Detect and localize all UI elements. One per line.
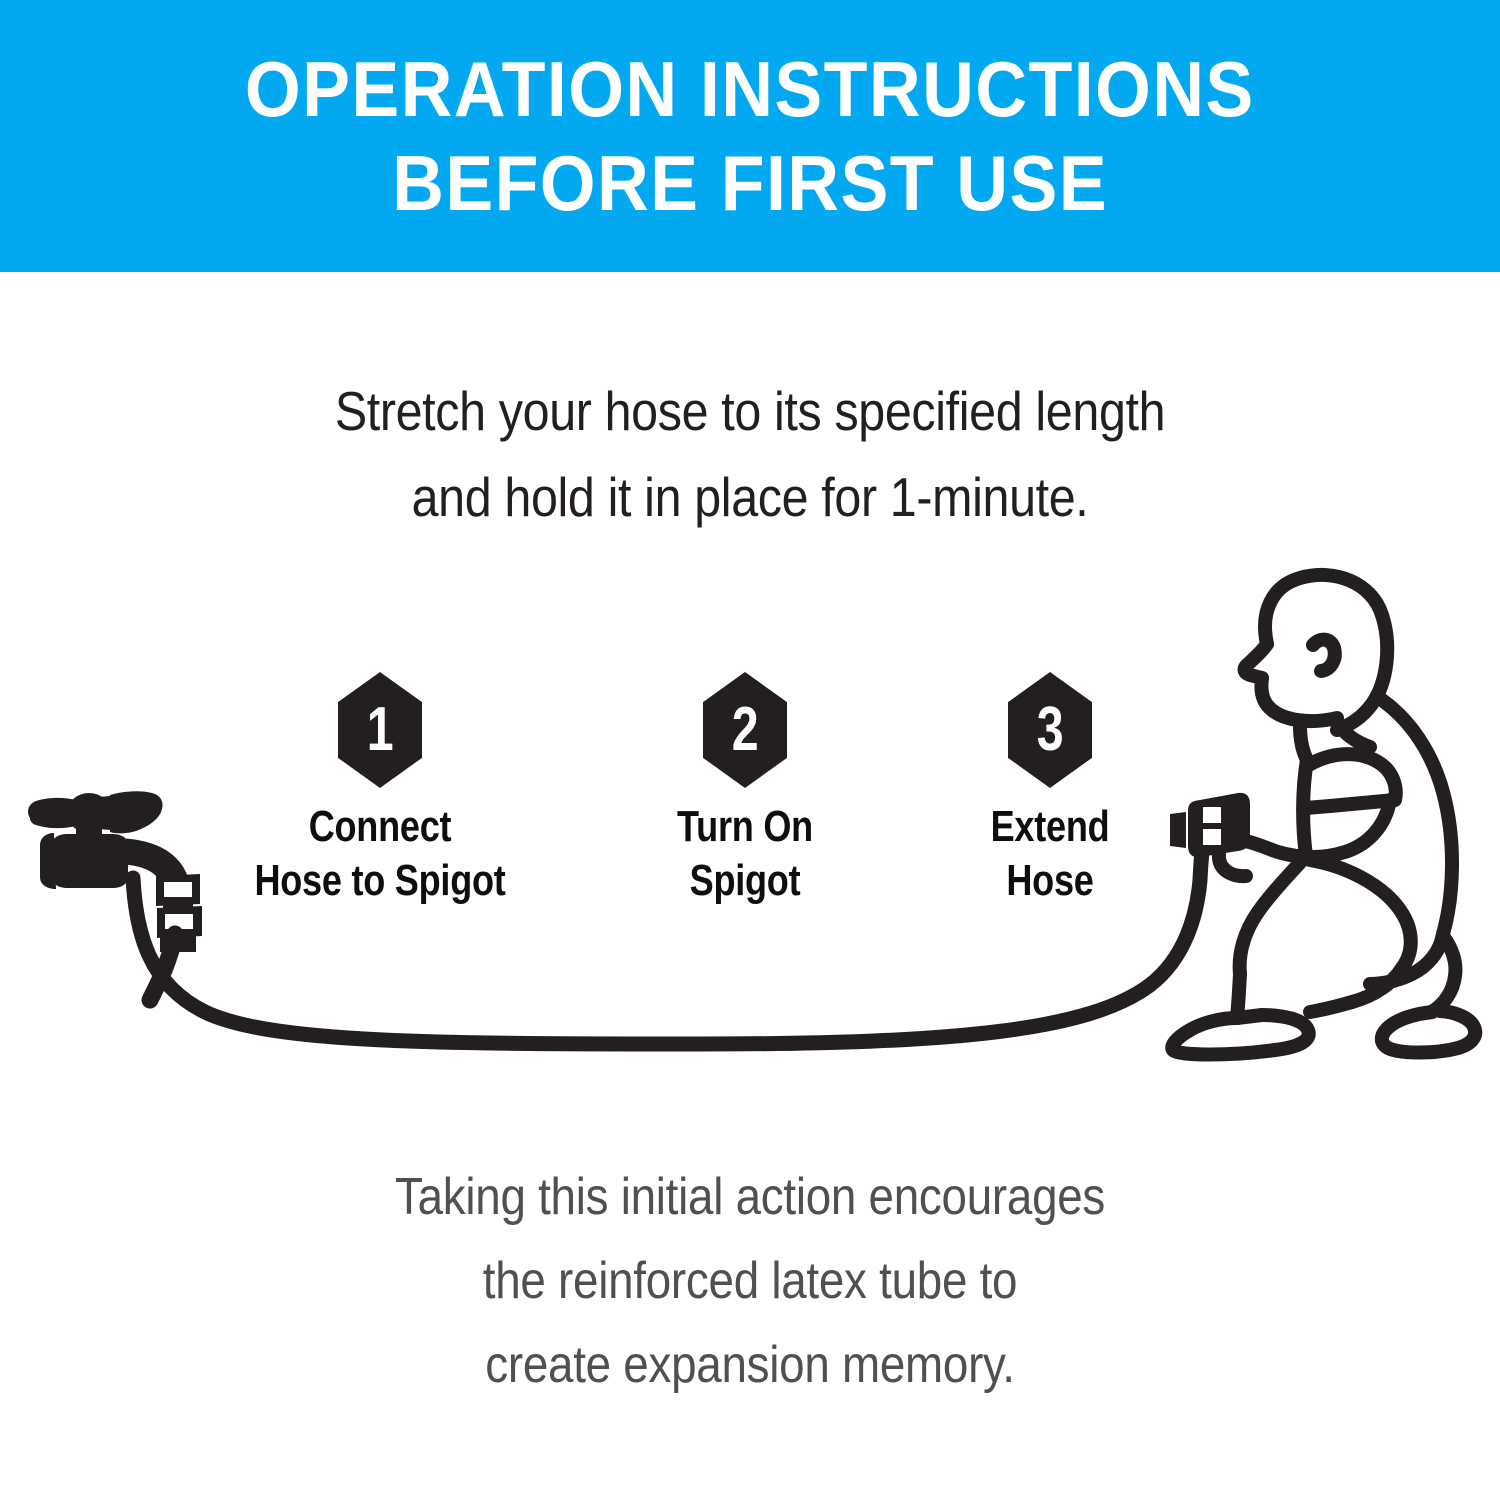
step-2-label-line-1: Turn On [618,800,872,854]
steps-row: 1 Connect Hose to Spigot 2 Turn On Spigo… [160,672,1210,932]
step-1-label-line-2: Hose to Spigot [200,854,561,908]
outro-paragraph: Taking this initial action encourages th… [0,1155,1500,1407]
step-3-label-line-1: Extend [923,800,1177,854]
step-3: 3 Extend Hose [895,672,1205,908]
step-2-label-line-2: Spigot [618,854,872,908]
step-2-number: 2 [732,699,759,761]
step-2-hexagon-badge: 2 [703,672,787,788]
header-banner: OPERATION INSTRUCTIONS BEFORE FIRST USE [0,0,1500,272]
step-3-hexagon-badge: 3 [1008,672,1092,788]
infographic-page: OPERATION INSTRUCTIONS BEFORE FIRST USE … [0,0,1500,1500]
step-3-label-line-2: Hose [923,854,1177,908]
intro-line-1: Stretch your hose to its specified lengt… [90,368,1410,454]
outro-line-2: the reinforced latex tube to [90,1239,1410,1323]
step-2: 2 Turn On Spigot [590,672,900,908]
intro-line-2: and hold it in place for 1-minute. [90,454,1410,540]
crouching-person-icon [1172,575,1475,1055]
step-1-label-line-1: Connect [200,800,561,854]
step-3-number: 3 [1037,699,1064,761]
header-title-line-2: BEFORE FIRST USE [392,136,1108,230]
intro-paragraph: Stretch your hose to its specified lengt… [0,368,1500,540]
outro-line-1: Taking this initial action encourages [90,1155,1410,1239]
outro-line-3: create expansion memory. [90,1323,1410,1407]
step-1-number: 1 [367,699,394,761]
step-1-hexagon-badge: 1 [338,672,422,788]
header-title-line-1: OPERATION INSTRUCTIONS [245,42,1255,136]
step-1: 1 Connect Hose to Spigot [160,672,600,908]
